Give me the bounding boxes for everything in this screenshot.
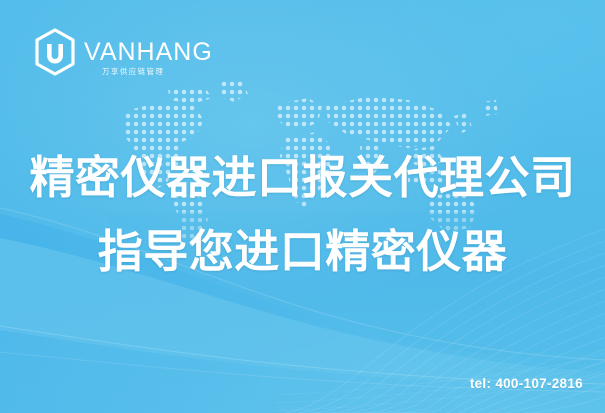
headline-line-2: 指导您进口精密仪器 <box>0 222 605 282</box>
brand-logo[interactable]: VANHANG 万享供应链管理 <box>33 28 213 76</box>
logo-wordmark: VANHANG <box>84 40 213 65</box>
headline-line-1: 精密仪器进口报关代理公司 <box>0 148 605 208</box>
hexagon-v-logo-icon <box>33 28 77 76</box>
contact-phone[interactable]: tel: 400-107-2816 <box>470 376 583 391</box>
promo-banner: VANHANG 万享供应链管理 精密仪器进口报关代理公司 指导您进口精密仪器 t… <box>0 0 605 413</box>
logo-subtitle: 万享供应链管理 <box>102 68 164 76</box>
logo-text-group: VANHANG 万享供应链管理 <box>84 32 213 72</box>
headline-block: 精密仪器进口报关代理公司 指导您进口精密仪器 <box>0 148 605 282</box>
